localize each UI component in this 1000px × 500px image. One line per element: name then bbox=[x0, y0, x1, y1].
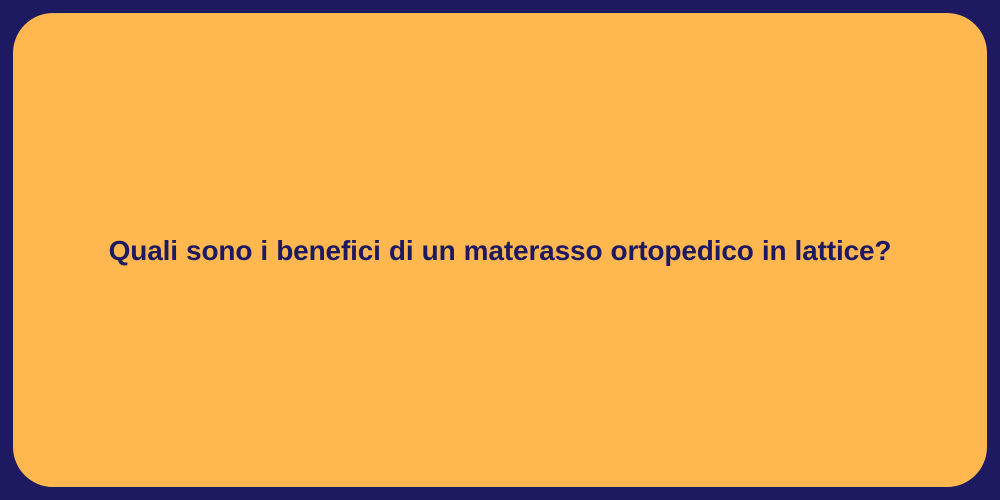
card-outer-frame: Quali sono i benefici di un materasso or… bbox=[0, 0, 1000, 500]
question-heading: Quali sono i benefici di un materasso or… bbox=[13, 233, 987, 268]
card-panel: Quali sono i benefici di un materasso or… bbox=[13, 13, 987, 487]
